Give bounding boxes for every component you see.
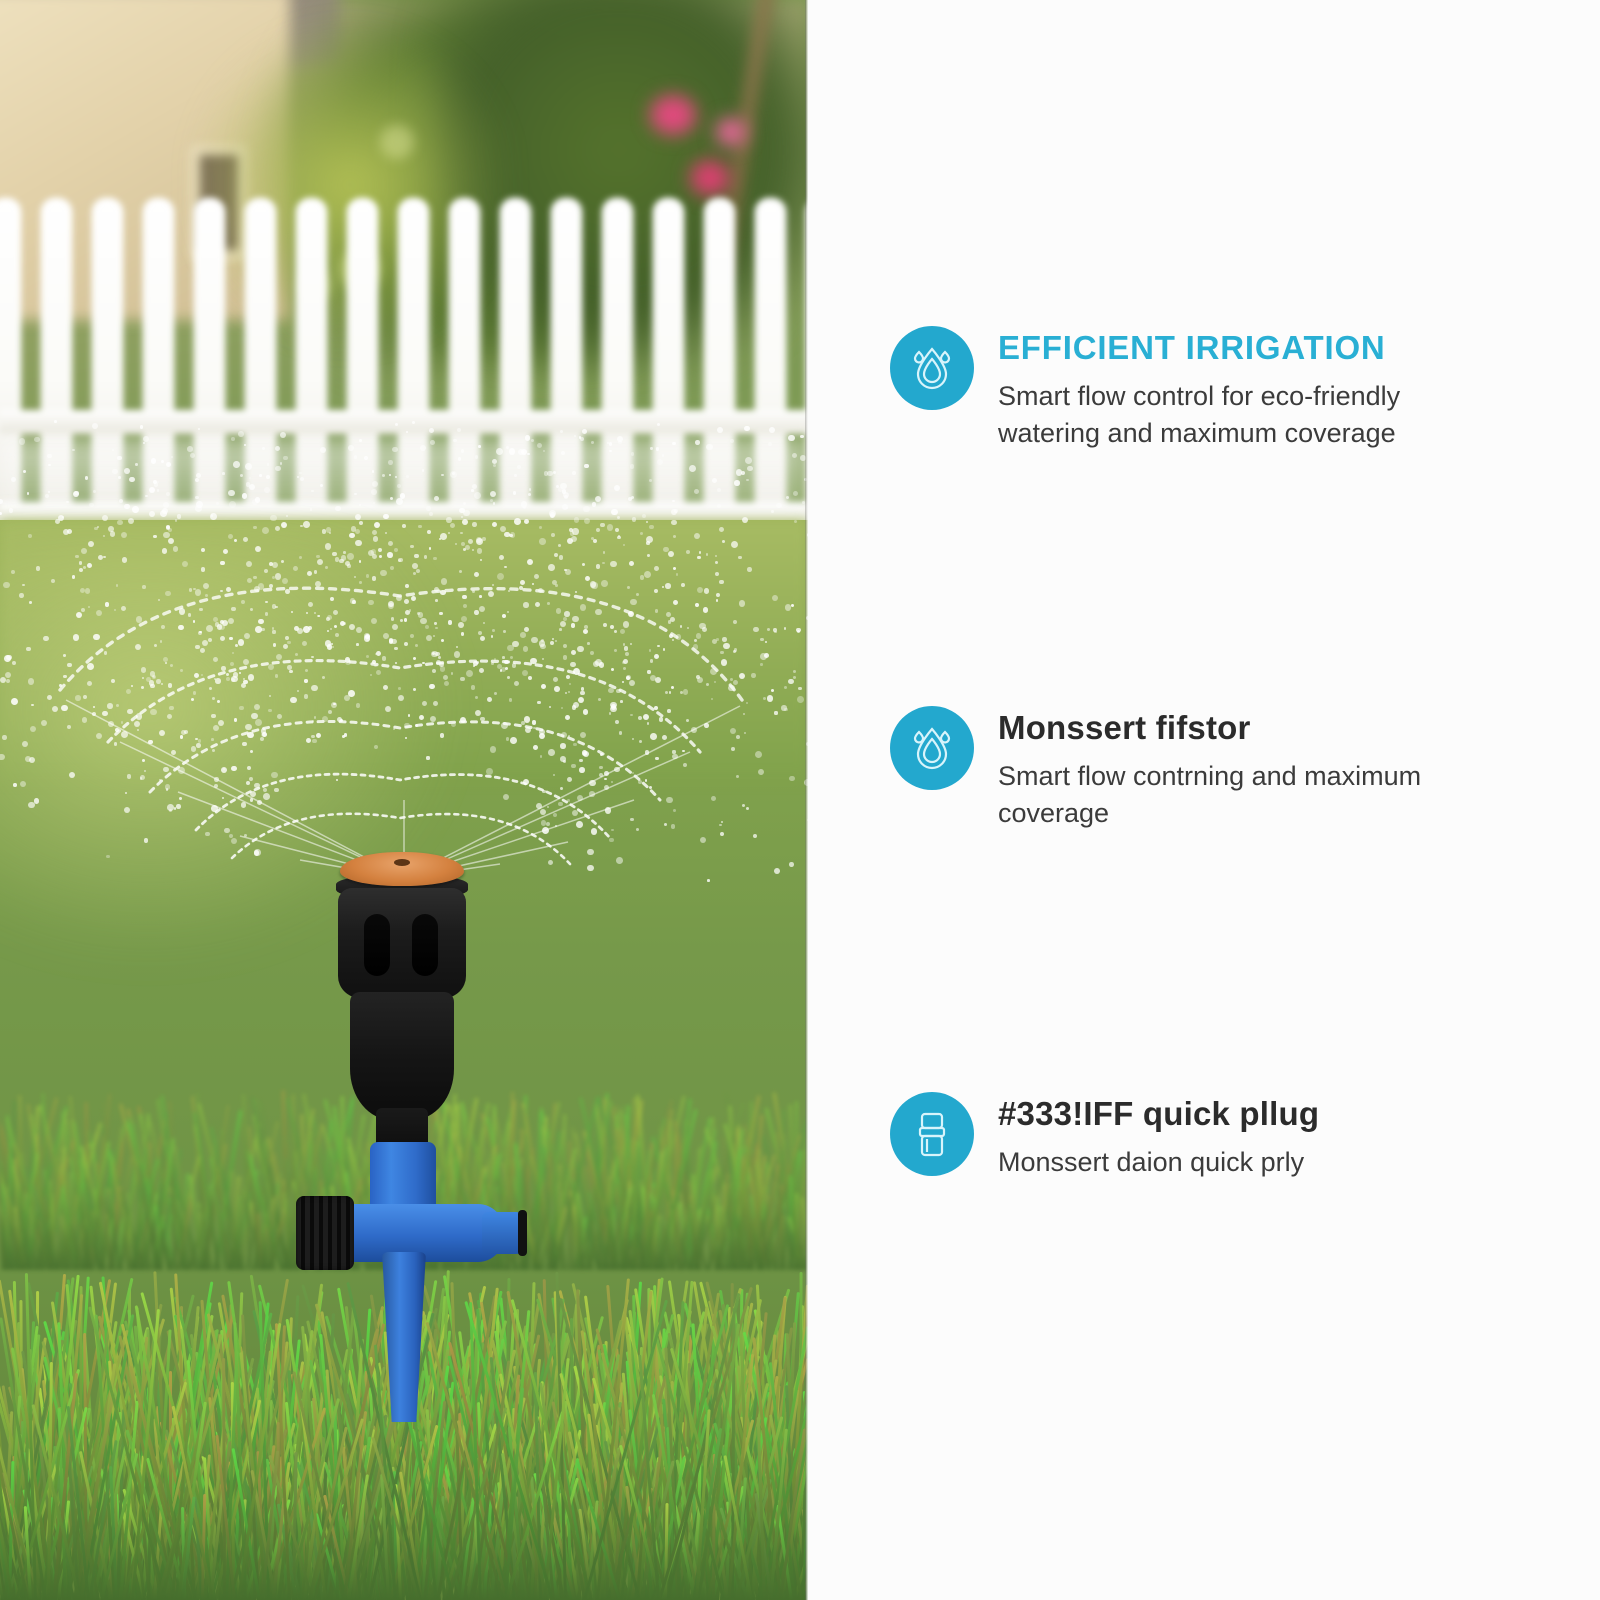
feature-item-1[interactable]: EFFICIENT IRRIGATION Smart flow control … (890, 326, 1510, 452)
product-photo (0, 0, 808, 1600)
water-drop-icon (890, 326, 974, 410)
flower-pink-3 (716, 118, 746, 146)
feature-text-2: Monssert fifstor Smart flow contrning an… (998, 706, 1498, 832)
feature-description-3: Monssert daion quick prly (998, 1144, 1319, 1181)
feature-item-2[interactable]: Monssert fifstor Smart flow contrning an… (890, 706, 1510, 832)
sprinkler-body (350, 992, 454, 1120)
flower-pink-1 (650, 95, 696, 135)
quick-plug-connector-icon (890, 1092, 974, 1176)
connector-ring (518, 1210, 527, 1256)
feature-text-1: EFFICIENT IRRIGATION Smart flow control … (998, 326, 1498, 452)
feature-title-1: EFFICIENT IRRIGATION (998, 330, 1498, 367)
product-feature-page: EFFICIENT IRRIGATION Smart flow control … (0, 0, 1600, 1600)
features-panel: EFFICIENT IRRIGATION Smart flow control … (808, 0, 1600, 1600)
feature-text-3: #333!IFF quick pllug Monssert daion quic… (998, 1092, 1319, 1181)
feature-title-2: Monssert fifstor (998, 710, 1498, 747)
fence-rail-upper (0, 410, 808, 434)
sprinkler-nozzle-cap (340, 852, 464, 886)
sprinkler-nozzle-hole (394, 859, 410, 866)
water-drop-icon (890, 706, 974, 790)
sprinkler-vent-left (364, 914, 390, 976)
feature-description-1: Smart flow control for eco-friendly wate… (998, 378, 1498, 453)
sprinkler-vent-right (412, 914, 438, 976)
feature-description-2: Smart flow contrning and maximum coverag… (998, 758, 1498, 833)
sprinkler-head (338, 888, 466, 998)
feature-item-3[interactable]: #333!IFF quick pllug Monssert daion quic… (890, 1092, 1510, 1181)
sprinkler-threaded-cap (296, 1196, 354, 1270)
sprinkler-device (296, 852, 516, 1412)
sprinkler-ground-spike (382, 1252, 426, 1422)
feature-title-3: #333!IFF quick pllug (998, 1096, 1319, 1133)
bokeh-3 (380, 125, 414, 159)
